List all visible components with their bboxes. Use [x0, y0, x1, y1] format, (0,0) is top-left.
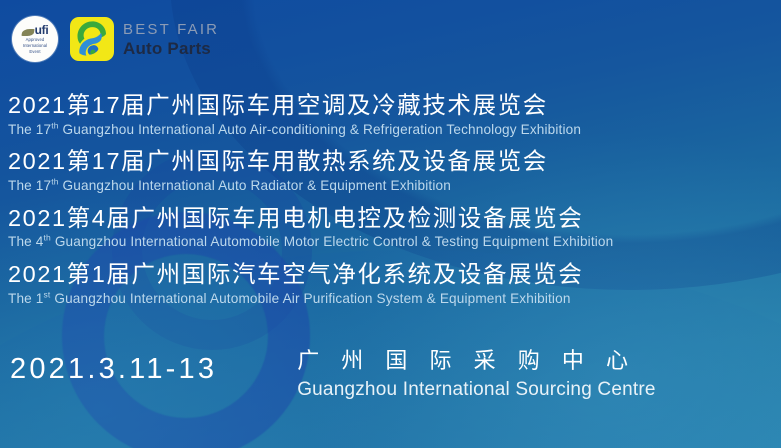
exhibition-title-4-en-post: Guangzhou International Automobile Air P… [50, 291, 570, 306]
best-fair-wordmark: BEST FAIR Auto Parts [123, 22, 219, 57]
exhibition-title-3-en-post: Guangzhou International Automobile Motor… [51, 234, 613, 249]
exhibition-title-2-en-ordinal: th [51, 176, 58, 186]
exhibition-title-1-en-ordinal: th [51, 120, 58, 130]
exhibition-banner: ufi Approved International Event BEST FA… [0, 0, 781, 448]
ufi-subtitle-line3: Event [14, 49, 56, 54]
exhibition-title-1-en-post: Guangzhou International Auto Air-conditi… [59, 122, 581, 137]
event-venue-cn: 广 州 国 际 采 购 中 心 [297, 348, 655, 374]
best-fair-line-2: Auto Parts [123, 40, 219, 57]
ufi-logo-mark: ufi [22, 24, 49, 36]
ufi-subtitle-line1: Approved [14, 37, 56, 42]
exhibition-title-1-en-pre: The 17 [8, 122, 51, 137]
exhibition-title-2-en-post: Guangzhou International Auto Radiator & … [59, 178, 451, 193]
exhibition-title-3-en-pre: The 4 [8, 234, 44, 249]
exhibition-title-1: 2021第17届广州国际车用空调及冷藏技术展览会 The 17th Guangz… [8, 92, 776, 138]
exhibition-title-1-en: The 17th Guangzhou International Auto Ai… [8, 122, 776, 139]
exhibition-title-2-en-pre: The 17 [8, 178, 51, 193]
ufi-approved-event-logo: ufi Approved International Event [12, 16, 58, 62]
exhibition-title-1-cn: 2021第17届广州国际车用空调及冷藏技术展览会 [8, 92, 776, 120]
best-fair-auto-parts-logo: BEST FAIR Auto Parts [70, 17, 219, 61]
ufi-wordmark: ufi [35, 24, 49, 36]
exhibition-title-4-en: The 1st Guangzhou International Automobi… [8, 291, 776, 308]
exhibition-title-4: 2021第1届广州国际汽车空气净化系统及设备展览会 The 1st Guangz… [8, 261, 776, 307]
exhibition-title-3-cn: 2021第4届广州国际车用电机电控及检测设备展览会 [8, 205, 776, 233]
event-info-bar: 2021.3.11-13 广 州 国 际 采 购 中 心 Guangzhou I… [10, 348, 771, 402]
logo-row: ufi Approved International Event BEST FA… [12, 16, 219, 62]
exhibition-title-2-en: The 17th Guangzhou International Auto Ra… [8, 178, 776, 195]
exhibition-title-4-en-pre: The 1 [8, 291, 44, 306]
exhibition-title-2: 2021第17届广州国际车用散热系统及设备展览会 The 17th Guangz… [8, 148, 776, 194]
event-venue: 广 州 国 际 采 购 中 心 Guangzhou International … [297, 348, 655, 402]
exhibition-title-3-en: The 4th Guangzhou International Automobi… [8, 234, 776, 251]
exhibition-title-2-cn: 2021第17届广州国际车用散热系统及设备展览会 [8, 148, 776, 176]
ufi-swoosh-icon [21, 29, 34, 36]
exhibition-title-3: 2021第4届广州国际车用电机电控及检测设备展览会 The 4th Guangz… [8, 205, 776, 251]
ufi-subtitle-line2: International [14, 43, 56, 48]
event-date: 2021.3.11-13 [10, 348, 217, 386]
event-venue-en: Guangzhou International Sourcing Centre [297, 378, 655, 402]
exhibition-title-list: 2021第17届广州国际车用空调及冷藏技术展览会 The 17th Guangz… [8, 92, 776, 307]
exhibition-title-4-cn: 2021第1届广州国际汽车空气净化系统及设备展览会 [8, 261, 776, 289]
best-fair-swirl-icon [70, 17, 114, 61]
exhibition-title-3-en-ordinal: th [44, 233, 51, 243]
best-fair-line-1: BEST FAIR [123, 22, 219, 37]
